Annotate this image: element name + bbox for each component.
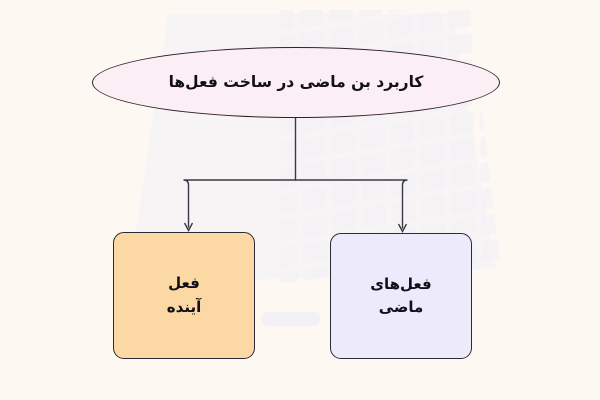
child-node-past-verbs[interactable]: فعل‌های ماضی xyxy=(330,233,472,359)
child-node-future-verb-label: فعل آینده xyxy=(161,272,207,319)
child-node-past-verbs-label: فعل‌های ماضی xyxy=(364,273,437,320)
child-node-future-verb[interactable]: فعل آینده xyxy=(113,232,255,359)
root-node-label: کاربرد بن ماضی در ساخت فعل‌ها xyxy=(163,73,430,92)
root-node[interactable]: کاربرد بن ماضی در ساخت فعل‌ها xyxy=(92,47,500,118)
diagram-canvas: کاربرد بن ماضی در ساخت فعل‌ها فعل آینده … xyxy=(0,0,600,400)
